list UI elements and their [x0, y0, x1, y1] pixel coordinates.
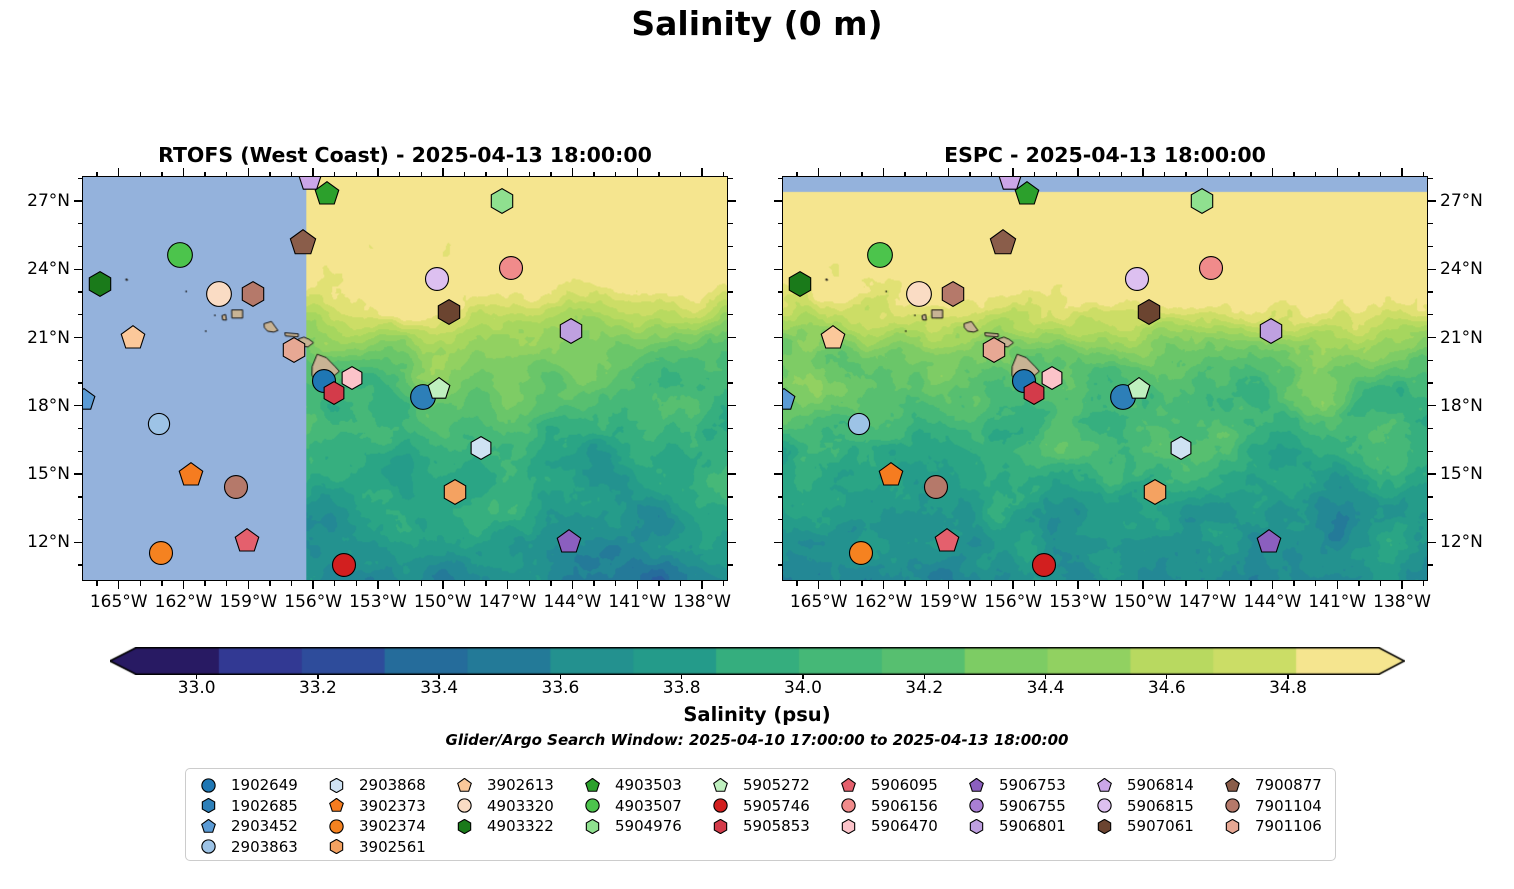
- x-tick: [1358, 581, 1359, 586]
- legend-item[interactable]: 3902373: [323, 796, 451, 817]
- legend-item-label: 5904976: [615, 817, 682, 835]
- x-tick: [637, 581, 638, 589]
- colorbar-tick: [1166, 675, 1167, 679]
- x-tick-top: [615, 172, 616, 177]
- colorbar-tick: [317, 675, 318, 679]
- x-tick-top: [723, 172, 724, 177]
- legend-item-label: 4903507: [615, 797, 682, 815]
- colorbar-tick: [681, 675, 682, 679]
- y-tick-left: [78, 496, 83, 497]
- legend-item-label: 5906755: [999, 797, 1066, 815]
- platform-marker[interactable]: [314, 181, 340, 211]
- x-tick: [1293, 581, 1294, 586]
- x-tick-top: [1034, 172, 1035, 177]
- x-tick: [1121, 581, 1122, 586]
- x-tick: [593, 581, 594, 586]
- y-tick-left: [78, 291, 83, 292]
- legend-item[interactable]: 5906753: [963, 775, 1091, 796]
- legend-item-label: 7901104: [1255, 797, 1322, 815]
- platform-marker[interactable]: [281, 337, 307, 367]
- x-tick-top: [1272, 168, 1273, 176]
- y-tick-right: [728, 223, 733, 224]
- y-tick-left: [78, 360, 83, 361]
- circle-marker-icon: [323, 819, 349, 834]
- y-tick-right: [1428, 360, 1433, 361]
- hexagon-marker-icon: [963, 819, 989, 834]
- x-tick-top: [637, 168, 638, 176]
- platform-marker[interactable]: [989, 229, 1017, 261]
- x-tick-label: 156°W: [279, 592, 347, 612]
- platform-legend[interactable]: 1902649190268529034522903863290386839023…: [185, 768, 1336, 861]
- y-tick-right: [1428, 178, 1433, 179]
- y-tick-left: [778, 496, 783, 497]
- x-tick: [1423, 581, 1424, 586]
- platform-marker[interactable]: [1142, 479, 1168, 509]
- x-tick-top: [96, 172, 97, 177]
- map-field-espc: [783, 177, 1427, 580]
- x-tick: [377, 581, 378, 589]
- y-tick-right: [728, 246, 733, 247]
- legend-item-label: 5906470: [871, 817, 938, 835]
- x-tick-label: 159°W: [914, 592, 982, 612]
- legend-item[interactable]: 5906470: [835, 816, 963, 837]
- legend-item[interactable]: 4903320: [451, 796, 579, 817]
- x-tick: [1337, 581, 1338, 589]
- x-tick: [680, 581, 681, 586]
- hexagon-marker-icon: [323, 778, 349, 793]
- y-tick-right: [1428, 291, 1433, 292]
- platform-marker[interactable]: [424, 266, 450, 296]
- y-tick-right: [728, 519, 733, 520]
- colorbar-tick: [924, 675, 925, 679]
- y-tick-label: 24°N: [0, 259, 70, 279]
- y-tick-label: 15°N: [1440, 464, 1483, 484]
- x-tick-label: 144°W: [1238, 592, 1306, 612]
- y-tick-left: [778, 223, 783, 224]
- x-tick-label: 165°W: [785, 592, 853, 612]
- platform-marker[interactable]: [905, 280, 933, 312]
- x-tick: [1099, 581, 1100, 586]
- y-tick-left: [78, 246, 83, 247]
- y-tick-left: [778, 428, 783, 429]
- x-tick: [723, 581, 724, 586]
- y-tick-left: [778, 291, 783, 292]
- platform-marker[interactable]: [1169, 436, 1193, 464]
- platform-marker[interactable]: [240, 281, 266, 311]
- x-tick: [550, 581, 551, 586]
- x-tick-top: [1423, 172, 1424, 177]
- legend-spacer: [963, 837, 1091, 858]
- legend-item-label: 2903863: [231, 838, 298, 856]
- legend-item[interactable]: 5905746: [707, 796, 835, 817]
- x-tick: [485, 581, 486, 586]
- legend-item-label: 1902685: [231, 797, 298, 815]
- legend-item-label: 3902373: [359, 797, 426, 815]
- colorbar-tick: [560, 675, 561, 679]
- platform-marker[interactable]: [147, 412, 171, 440]
- platform-marker[interactable]: [489, 188, 515, 218]
- y-tick-right: [728, 314, 733, 315]
- x-tick-label: 153°W: [1044, 592, 1112, 612]
- x-tick: [948, 581, 949, 589]
- x-tick-top: [701, 168, 702, 176]
- platform-marker[interactable]: [87, 271, 113, 301]
- legend-item[interactable]: 2903452: [195, 816, 323, 837]
- x-tick: [1380, 581, 1381, 586]
- legend-item[interactable]: 7901106: [1219, 816, 1347, 837]
- y-tick-right: [1428, 542, 1436, 543]
- hexagon-marker-icon: [707, 819, 733, 834]
- platform-marker[interactable]: [234, 528, 260, 558]
- legend-item[interactable]: 2903863: [195, 837, 323, 858]
- platform-marker[interactable]: [847, 412, 871, 440]
- legend-item-label: 3902613: [487, 776, 554, 794]
- colorbar-tick: [438, 675, 439, 679]
- y-tick-right: [1428, 564, 1433, 565]
- legend-item[interactable]: 1902685: [195, 796, 323, 817]
- x-tick: [161, 581, 162, 586]
- legend-item[interactable]: 5905272: [707, 775, 835, 796]
- colorbar-tick: [1045, 675, 1046, 679]
- platform-marker[interactable]: [427, 377, 451, 405]
- y-tick-right: [1428, 337, 1436, 338]
- x-tick: [507, 581, 508, 589]
- x-tick-label: 141°W: [603, 592, 671, 612]
- x-tick: [96, 581, 97, 586]
- y-tick-right: [1428, 405, 1436, 406]
- y-tick-right: [1428, 246, 1433, 247]
- x-tick-top: [969, 172, 970, 177]
- x-tick-top: [248, 168, 249, 176]
- x-tick: [269, 581, 270, 586]
- platform-marker[interactable]: [1031, 552, 1057, 581]
- y-tick-right: [728, 451, 733, 452]
- platform-marker[interactable]: [923, 474, 949, 504]
- legend-item-label: 5907061: [1127, 817, 1194, 835]
- x-tick: [226, 581, 227, 586]
- map-panel-espc[interactable]: [782, 176, 1428, 581]
- x-tick: [904, 581, 905, 586]
- hexagon-marker-icon: [195, 798, 221, 813]
- panel-title-rtofs: RTOFS (West Coast) - 2025-04-13 18:00:00: [82, 143, 728, 167]
- platform-marker[interactable]: [1189, 188, 1215, 218]
- circle-marker-icon: [195, 839, 221, 854]
- y-tick-left: [778, 564, 783, 565]
- y-tick-right: [728, 360, 733, 361]
- y-tick-label: 27°N: [1440, 191, 1483, 211]
- x-tick: [1229, 581, 1230, 586]
- x-tick-top: [926, 172, 927, 177]
- x-tick-label: 138°W: [668, 592, 736, 612]
- y-tick-left: [78, 178, 83, 179]
- y-tick-right: [728, 496, 733, 497]
- x-tick-top: [1207, 168, 1208, 176]
- x-tick-top: [485, 172, 486, 177]
- legend-item[interactable]: 5905853: [707, 816, 835, 837]
- x-tick: [529, 581, 530, 586]
- x-tick-top: [312, 168, 313, 176]
- x-tick-top: [421, 172, 422, 177]
- platform-marker[interactable]: [981, 337, 1007, 367]
- platform-marker[interactable]: [848, 540, 874, 570]
- y-tick-left: [78, 382, 83, 383]
- legend-item[interactable]: 5906801: [963, 816, 1091, 837]
- platform-marker[interactable]: [289, 229, 317, 261]
- x-tick-top: [1164, 172, 1165, 177]
- colorbar-tick-label: 34.8: [1269, 678, 1307, 698]
- platform-marker[interactable]: [1022, 381, 1046, 409]
- circle-marker-icon: [707, 798, 733, 813]
- y-tick-label: 21°N: [0, 328, 70, 348]
- legend-spacer: [579, 837, 707, 858]
- platform-marker[interactable]: [1014, 181, 1040, 211]
- pentagon-marker-icon: [451, 778, 477, 793]
- x-tick-top: [1358, 172, 1359, 177]
- legend-item[interactable]: 4903322: [451, 816, 579, 837]
- platform-marker[interactable]: [1124, 266, 1150, 296]
- legend-spacer: [1219, 837, 1347, 858]
- x-tick: [1272, 581, 1273, 589]
- legend-item-label: 5906095: [871, 776, 938, 794]
- x-tick-top: [464, 172, 465, 177]
- x-tick-top: [1121, 172, 1122, 177]
- legend-item[interactable]: 1902649: [195, 775, 323, 796]
- x-tick-top: [529, 172, 530, 177]
- x-tick-top: [377, 168, 378, 176]
- x-tick-top: [161, 172, 162, 177]
- legend-item[interactable]: 5904976: [579, 816, 707, 837]
- legend-item[interactable]: 3902613: [451, 775, 579, 796]
- y-tick-left: [774, 337, 782, 338]
- platform-marker[interactable]: [1258, 318, 1284, 348]
- x-tick-top: [1142, 168, 1143, 176]
- x-tick-top: [883, 168, 884, 176]
- x-tick: [658, 581, 659, 586]
- legend-item[interactable]: 5906755: [963, 796, 1091, 817]
- y-tick-left: [778, 246, 783, 247]
- hexagon-marker-icon: [579, 819, 605, 834]
- y-tick-left: [78, 223, 83, 224]
- platform-marker[interactable]: [878, 462, 904, 492]
- y-tick-right: [1428, 269, 1436, 270]
- pentagon-marker-icon: [835, 778, 861, 793]
- platform-marker[interactable]: [120, 325, 146, 355]
- x-tick-top: [593, 172, 594, 177]
- x-tick-top: [1315, 172, 1316, 177]
- platform-marker[interactable]: [498, 255, 524, 285]
- platform-marker[interactable]: [1136, 299, 1162, 329]
- colorbar-tick: [802, 675, 803, 679]
- legend-item[interactable]: 5906815: [1091, 796, 1219, 817]
- hexagon-marker-icon: [323, 839, 349, 854]
- colorbar-tick-label: 33.8: [663, 678, 701, 698]
- legend-item-label: 2903452: [231, 817, 298, 835]
- platform-marker[interactable]: [787, 271, 813, 301]
- platform-marker[interactable]: [940, 281, 966, 311]
- platform-marker[interactable]: [331, 552, 357, 581]
- legend-item[interactable]: 3902561: [323, 837, 451, 858]
- platform-marker[interactable]: [782, 388, 796, 416]
- legend-item-label: 5906753: [999, 776, 1066, 794]
- legend-item[interactable]: 7901104: [1219, 796, 1347, 817]
- platform-marker[interactable]: [178, 462, 204, 492]
- legend-spacer: [835, 837, 963, 858]
- platform-marker[interactable]: [166, 241, 194, 273]
- platform-marker[interactable]: [866, 241, 894, 273]
- colorbar-tick-label: 34.0: [784, 678, 822, 698]
- y-tick-right: [1428, 519, 1433, 520]
- x-tick-top: [291, 172, 292, 177]
- platform-marker[interactable]: [469, 436, 493, 464]
- legend-grid: 1902649190268529034522903863290386839023…: [195, 775, 1347, 857]
- legend-item[interactable]: 2903868: [323, 775, 451, 796]
- figure-title: Salinity (0 m): [0, 4, 1514, 43]
- x-tick-top: [1185, 172, 1186, 177]
- pentagon-marker-icon: [1219, 778, 1245, 793]
- circle-marker-icon: [579, 798, 605, 813]
- x-tick: [796, 581, 797, 586]
- x-tick-label: 159°W: [214, 592, 282, 612]
- y-tick-label: 18°N: [1440, 396, 1483, 416]
- legend-item-label: 3902561: [359, 838, 426, 856]
- legend-item[interactable]: 3902374: [323, 816, 451, 837]
- legend-item[interactable]: 4903507: [579, 796, 707, 817]
- platform-marker[interactable]: [1127, 377, 1151, 405]
- platform-marker[interactable]: [556, 529, 582, 559]
- colorbar-tick-label: 34.4: [1027, 678, 1065, 698]
- platform-marker[interactable]: [436, 299, 462, 329]
- x-tick-label: 144°W: [538, 592, 606, 612]
- y-tick-right: [1428, 496, 1433, 497]
- y-tick-left: [74, 542, 82, 543]
- legend-item[interactable]: 4903503: [579, 775, 707, 796]
- legend-item-label: 7901106: [1255, 817, 1322, 835]
- x-tick-top: [1401, 168, 1402, 176]
- legend-item-label: 5905853: [743, 817, 810, 835]
- panel-title-espc: ESPC - 2025-04-13 18:00:00: [782, 143, 1428, 167]
- x-tick-top: [796, 172, 797, 177]
- y-tick-left: [78, 519, 83, 520]
- y-tick-left: [774, 542, 782, 543]
- x-tick-top: [991, 172, 992, 177]
- x-tick-top: [334, 172, 335, 177]
- colorbar-tick: [1287, 675, 1288, 679]
- platform-marker[interactable]: [558, 318, 584, 348]
- x-tick: [1077, 581, 1078, 589]
- y-tick-right: [728, 405, 736, 406]
- y-tick-left: [74, 269, 82, 270]
- y-tick-left: [78, 564, 83, 565]
- x-tick-top: [904, 172, 905, 177]
- x-tick-top: [1099, 172, 1100, 177]
- hexagon-marker-icon: [835, 819, 861, 834]
- y-tick-left: [778, 314, 783, 315]
- legend-item-label: 4903322: [487, 817, 554, 835]
- legend-spacer: [707, 837, 835, 858]
- y-tick-right: [1428, 473, 1436, 474]
- platform-marker[interactable]: [1256, 529, 1282, 559]
- platform-marker[interactable]: [820, 325, 846, 355]
- legend-item[interactable]: 5906156: [835, 796, 963, 817]
- legend-item-label: 5905746: [743, 797, 810, 815]
- legend-item-label: 2903868: [359, 776, 426, 794]
- x-tick: [1207, 581, 1208, 589]
- legend-item[interactable]: 5907061: [1091, 816, 1219, 837]
- platform-marker[interactable]: [205, 280, 233, 312]
- platform-marker[interactable]: [1198, 255, 1224, 285]
- circle-marker-icon: [963, 798, 989, 813]
- platform-marker[interactable]: [223, 474, 249, 504]
- platform-marker[interactable]: [442, 479, 468, 509]
- x-tick: [969, 581, 970, 586]
- y-tick-label: 21°N: [1440, 328, 1483, 348]
- legend-item-label: 5906156: [871, 797, 938, 815]
- circle-marker-icon: [1091, 798, 1117, 813]
- pentagon-marker-icon: [963, 778, 989, 793]
- y-tick-label: 24°N: [1440, 259, 1483, 279]
- y-tick-left: [774, 473, 782, 474]
- x-tick: [926, 581, 927, 586]
- x-tick-top: [140, 172, 141, 177]
- map-field-rtofs: [83, 177, 727, 580]
- colorbar-gradient: [110, 647, 1405, 675]
- legend-spacer: [451, 837, 579, 858]
- x-tick: [840, 581, 841, 586]
- x-tick-top: [356, 172, 357, 177]
- y-tick-label: 27°N: [0, 191, 70, 211]
- x-tick-top: [442, 168, 443, 176]
- platform-marker[interactable]: [934, 528, 960, 558]
- legend-item[interactable]: 7900877: [1219, 775, 1347, 796]
- y-tick-right: [728, 200, 736, 201]
- hexagon-marker-icon: [451, 819, 477, 834]
- y-tick-left: [74, 337, 82, 338]
- x-tick: [1056, 581, 1057, 586]
- map-panel-rtofs[interactable]: [82, 176, 728, 581]
- x-tick-top: [183, 168, 184, 176]
- legend-item[interactable]: 5906814: [1091, 775, 1219, 796]
- y-tick-right: [728, 337, 736, 338]
- legend-spacer: [1091, 837, 1219, 858]
- x-tick-top: [1337, 168, 1338, 176]
- legend-item-label: 7900877: [1255, 776, 1322, 794]
- y-tick-right: [1428, 451, 1433, 452]
- x-tick: [442, 581, 443, 589]
- y-tick-right: [728, 269, 736, 270]
- y-tick-left: [778, 451, 783, 452]
- colorbar-tick-label: 33.0: [178, 678, 216, 698]
- platform-marker[interactable]: [322, 381, 346, 409]
- legend-item[interactable]: 5906095: [835, 775, 963, 796]
- x-tick-top: [507, 168, 508, 176]
- x-tick-label: 147°W: [1174, 592, 1242, 612]
- x-tick-top: [550, 172, 551, 177]
- y-tick-label: 12°N: [0, 532, 70, 552]
- search-window-subtitle: Glider/Argo Search Window: 2025-04-10 17…: [0, 731, 1514, 749]
- platform-marker[interactable]: [148, 540, 174, 570]
- x-tick: [464, 581, 465, 586]
- x-tick-top: [1250, 172, 1251, 177]
- y-tick-left: [774, 405, 782, 406]
- platform-marker[interactable]: [82, 388, 96, 416]
- x-tick: [1185, 581, 1186, 586]
- pentagon-marker-icon: [1091, 778, 1117, 793]
- legend-item-label: 3902374: [359, 817, 426, 835]
- colorbar-tick-label: 34.2: [905, 678, 943, 698]
- x-tick: [204, 581, 205, 586]
- pentagon-marker-icon: [707, 778, 733, 793]
- y-tick-left: [774, 269, 782, 270]
